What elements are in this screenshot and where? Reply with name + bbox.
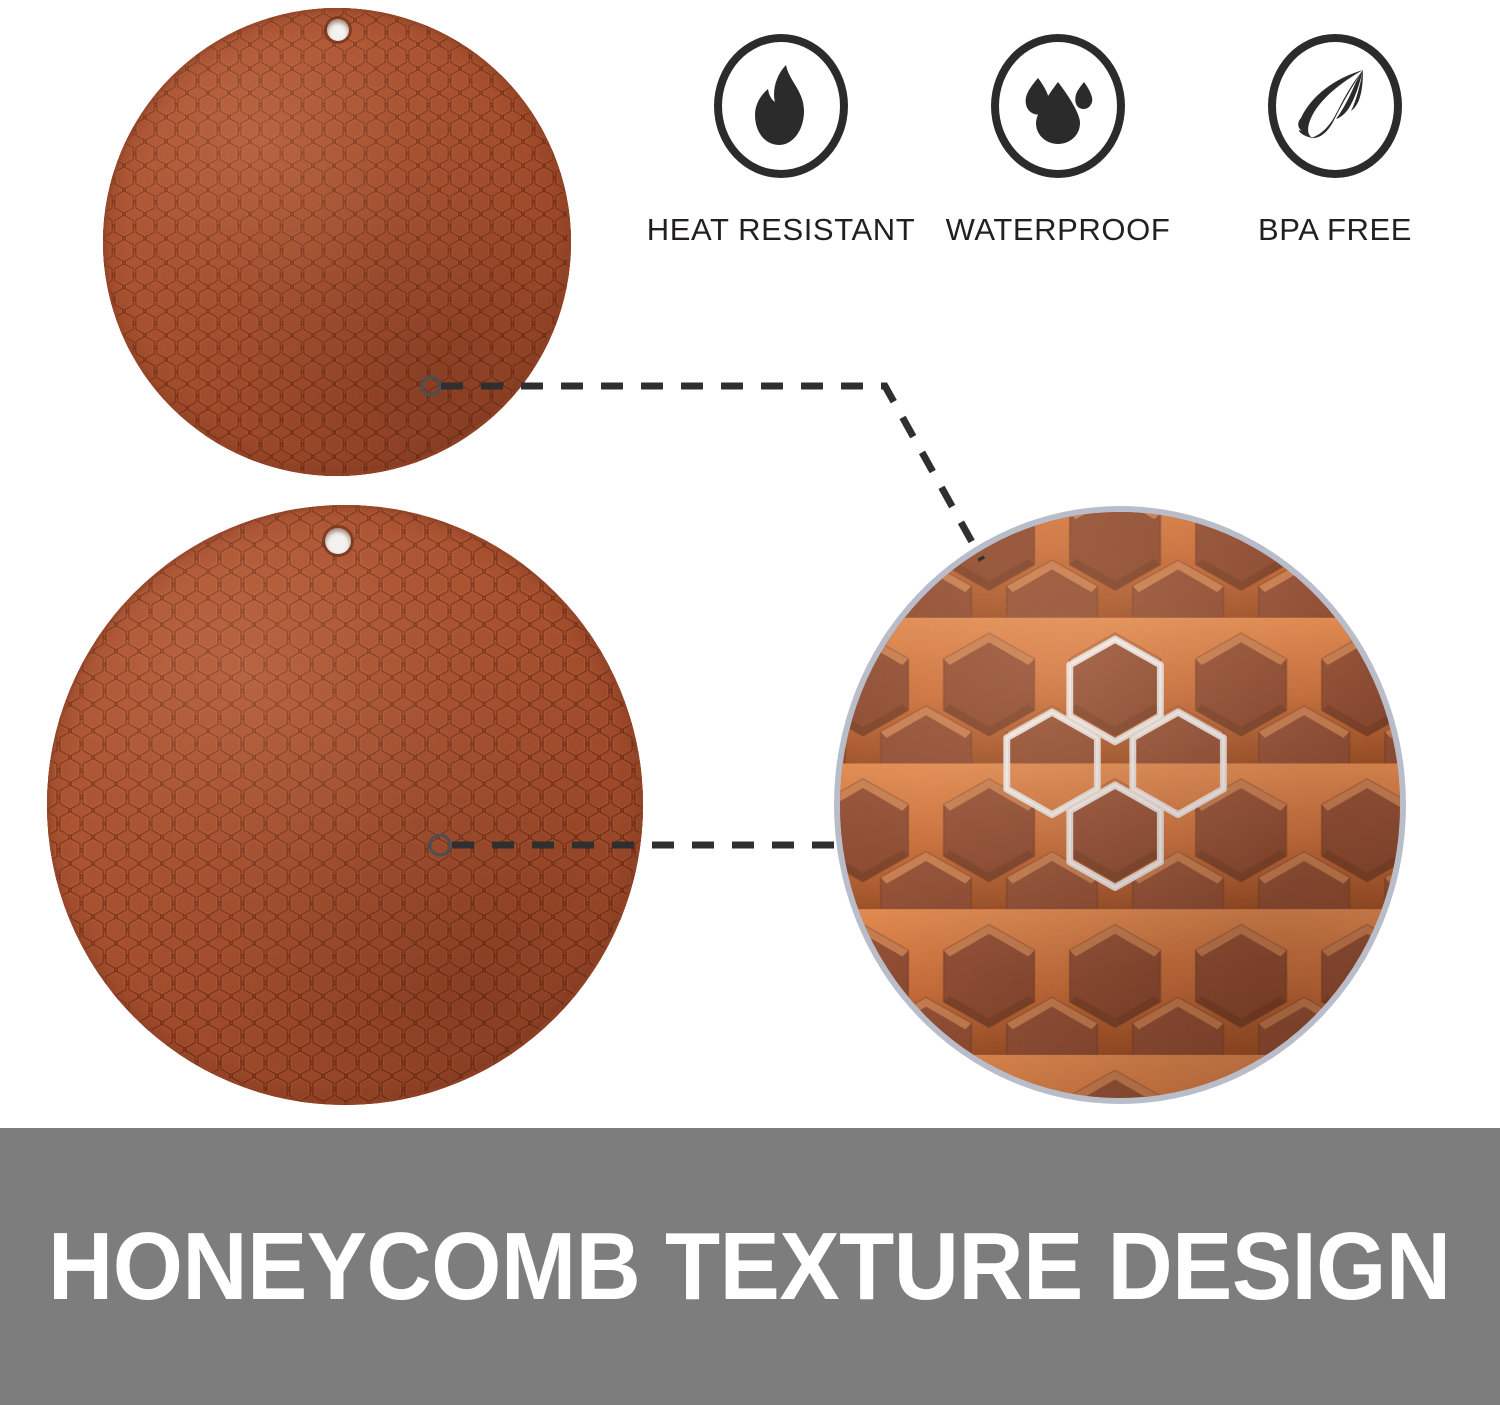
feature-label-bpa-free: BPA FREE xyxy=(1258,212,1412,248)
hanging-hole-top xyxy=(327,19,349,41)
honeycomb-closeup-pattern xyxy=(834,506,1406,1104)
feature-label-heat-resistant: HEAT RESISTANT xyxy=(647,212,916,248)
flame-icon xyxy=(748,63,814,149)
feature-badge-heat-resistant xyxy=(714,34,848,178)
feature-badge-bpa-free xyxy=(1268,34,1402,178)
feature-badge-waterproof xyxy=(991,34,1125,178)
bottom-banner: HONEYCOMB TEXTURE DESIGN xyxy=(0,1128,1500,1405)
feature-list: HEAT RESISTANT WATERPROOF xyxy=(648,34,1468,264)
banner-title: HONEYCOMB TEXTURE DESIGN xyxy=(48,1219,1451,1315)
feature-heat-resistant: HEAT RESISTANT xyxy=(648,34,914,248)
product-mat-bottom xyxy=(47,505,643,1105)
feature-waterproof: WATERPROOF xyxy=(925,34,1191,248)
feature-label-waterproof: WATERPROOF xyxy=(946,212,1171,248)
water-drop-icon xyxy=(1018,66,1098,146)
honeycomb-pattern-top xyxy=(103,8,571,476)
hanging-hole-bottom xyxy=(325,528,351,554)
product-mat-top xyxy=(103,8,571,476)
leaf-icon xyxy=(1293,66,1377,146)
feature-bpa-free: BPA FREE xyxy=(1202,34,1468,248)
honeycomb-pattern-bottom xyxy=(47,505,643,1105)
honeycomb-texture-closeup xyxy=(834,506,1406,1104)
infographic-canvas: HEAT RESISTANT WATERPROOF xyxy=(0,0,1500,1405)
